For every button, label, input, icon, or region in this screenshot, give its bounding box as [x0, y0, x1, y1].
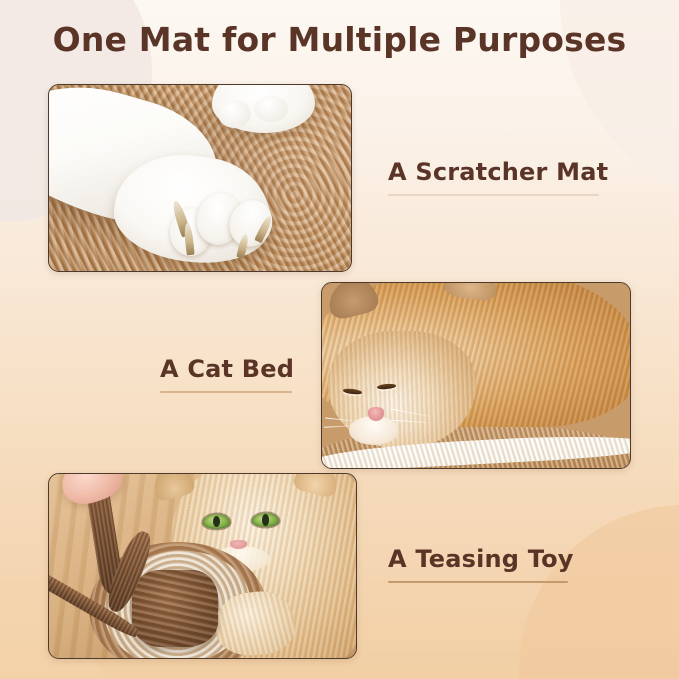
photo-cat-bed-content: [322, 283, 630, 468]
photo-scratcher-mat-content: [49, 85, 351, 271]
product-infographic-poster: One Mat for Multiple Purposes: [0, 0, 679, 679]
cat-toe-upper-a: [218, 100, 251, 128]
decorative-circle-bottom-right: [519, 505, 679, 679]
photo-scratcher-mat: [48, 84, 352, 272]
photo-teasing-toy: [48, 473, 357, 659]
photo-teasing-toy-content: [49, 474, 356, 658]
label-scratcher-mat-underline: [388, 194, 599, 196]
sleeping-cat-eye-left: [343, 388, 363, 395]
label-cat-bed: A Cat Bed: [160, 355, 294, 393]
photo-cat-bed: [321, 282, 631, 469]
page-title: One Mat for Multiple Purposes: [0, 20, 679, 59]
rope-knot-toy: [132, 570, 218, 647]
whisker-c: [390, 408, 428, 417]
label-scratcher-mat: A Scratcher Mat: [388, 158, 608, 196]
label-teasing-toy: A Teasing Toy: [388, 545, 574, 583]
label-cat-bed-text: A Cat Bed: [160, 355, 294, 383]
whisker-d: [393, 420, 428, 424]
playing-cat-pupil-right: [262, 514, 269, 525]
cat-toe-upper-b: [254, 96, 287, 122]
sleeping-cat-eye-right: [377, 384, 397, 391]
label-cat-bed-underline: [160, 391, 292, 393]
label-scratcher-mat-text: A Scratcher Mat: [388, 158, 608, 186]
playing-cat-pupil-left: [213, 516, 220, 527]
label-teasing-toy-text: A Teasing Toy: [388, 545, 574, 573]
label-teasing-toy-underline: [388, 581, 568, 583]
